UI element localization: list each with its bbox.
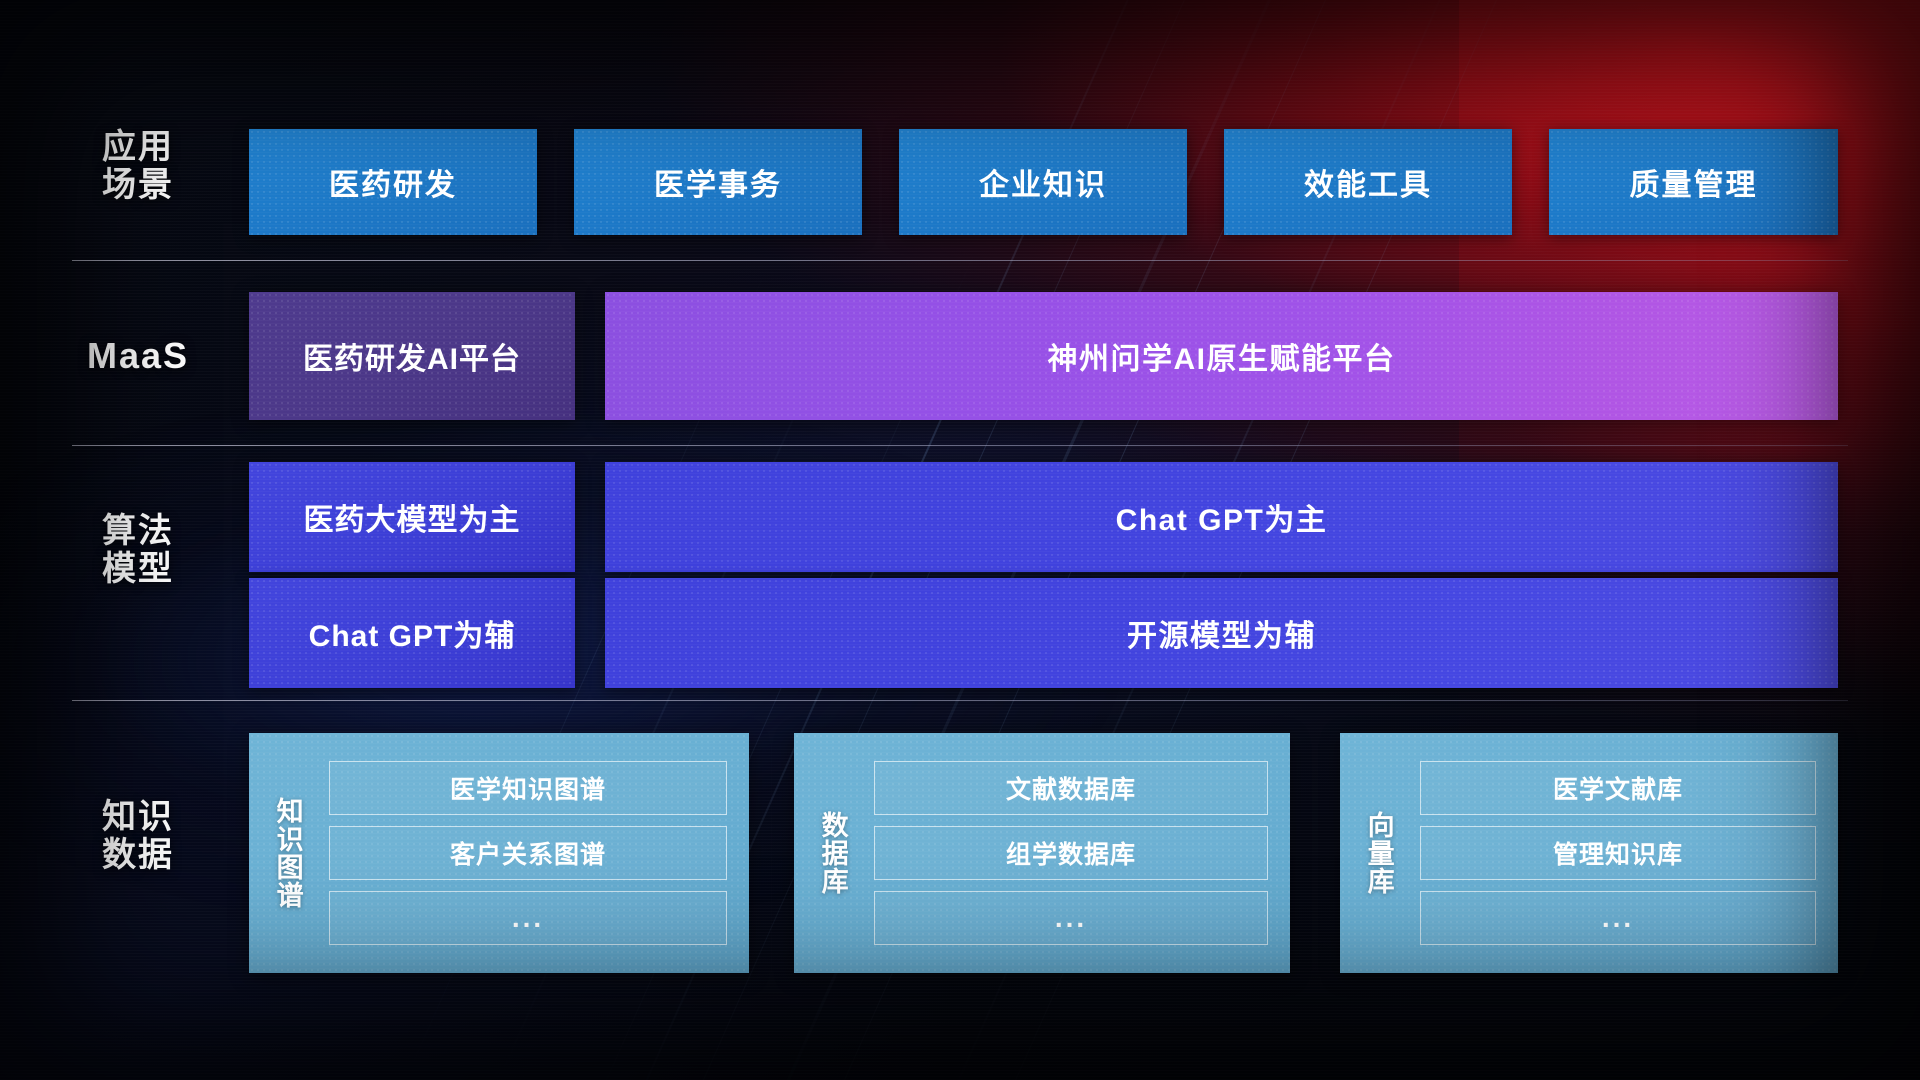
app-scenario-box-5[interactable]: 质量管理: [1549, 129, 1838, 235]
algorithm-row1-small-label: 医药大模型为主: [304, 495, 521, 539]
knowledge-panel-items: 文献数据库 组学数据库 ...: [870, 733, 1290, 973]
algorithm-row1-wide-label: Chat GPT为主: [1116, 495, 1328, 539]
tier-label-text: MaaS: [72, 336, 204, 376]
knowledge-panel-items: 医学文献库 管理知识库 ...: [1416, 733, 1838, 973]
app-scenario-box-1[interactable]: 医药研发: [249, 129, 537, 235]
maas-platform-box[interactable]: 医药研发AI平台: [249, 292, 575, 420]
tier-label-line2: 场景: [72, 166, 204, 204]
tier-label-application-scenarios: 应用 场景: [72, 128, 204, 204]
tier-divider-2: [72, 445, 1848, 446]
knowledge-panel-items: 医学知识图谱 客户关系图谱 ...: [325, 733, 749, 973]
app-scenario-label: 医学事务: [654, 160, 782, 204]
knowledge-item[interactable]: 客户关系图谱: [329, 826, 727, 880]
algorithm-row1-wide-box[interactable]: Chat GPT为主: [605, 462, 1838, 572]
knowledge-item[interactable]: 组学数据库: [874, 826, 1268, 880]
knowledge-item-more[interactable]: ...: [329, 891, 727, 945]
algorithm-row2-small-label: Chat GPT为辅: [309, 611, 516, 655]
algorithm-row2-wide-label: 开源模型为辅: [1127, 611, 1316, 655]
maas-enablement-platform-label: 神州问学AI原生赋能平台: [1048, 334, 1396, 378]
algorithm-row2-wide-box[interactable]: 开源模型为辅: [605, 578, 1838, 688]
knowledge-panel-vector-store[interactable]: 向量库 医学文献库 管理知识库 ...: [1340, 733, 1838, 973]
tier-label-line2: 模型: [72, 550, 204, 588]
app-scenario-label: 医药研发: [329, 160, 457, 204]
app-scenario-label: 质量管理: [1630, 160, 1758, 204]
app-scenario-box-2[interactable]: 医学事务: [574, 129, 862, 235]
tier-label-maas: MaaS: [72, 336, 204, 376]
knowledge-item-more[interactable]: ...: [1420, 891, 1816, 945]
knowledge-panel-knowledge-graph[interactable]: 知识图谱 医学知识图谱 客户关系图谱 ...: [249, 733, 749, 973]
slide-canvas: 应用 场景 医药研发 医学事务 企业知识 效能工具 质量管理 MaaS: [0, 0, 1920, 1080]
algorithm-row1-small-box[interactable]: 医药大模型为主: [249, 462, 575, 572]
tier-divider-3: [72, 700, 1848, 701]
tier-label-line1: 知识: [72, 798, 204, 836]
knowledge-item[interactable]: 管理知识库: [1420, 826, 1816, 880]
app-scenario-label: 企业知识: [979, 160, 1107, 204]
maas-enablement-platform-box[interactable]: 神州问学AI原生赋能平台: [605, 292, 1838, 420]
algorithm-row2-small-box[interactable]: Chat GPT为辅: [249, 578, 575, 688]
tier-label-line1: 算法: [72, 512, 204, 550]
knowledge-item[interactable]: 文献数据库: [874, 761, 1268, 815]
knowledge-panel-vertical-label: 知识图谱: [249, 733, 325, 973]
tier-label-algorithm-models: 算法 模型: [72, 512, 204, 588]
maas-platform-label: 医药研发AI平台: [303, 334, 521, 378]
knowledge-panel-vertical-label: 向量库: [1340, 733, 1416, 973]
app-scenario-box-4[interactable]: 效能工具: [1224, 129, 1512, 235]
knowledge-item[interactable]: 医学文献库: [1420, 761, 1816, 815]
app-scenario-label: 效能工具: [1304, 160, 1432, 204]
tier-label-line2: 数据: [72, 836, 204, 874]
tier-divider-1: [72, 260, 1848, 261]
tier-label-line1: 应用: [72, 128, 204, 166]
app-scenario-box-3[interactable]: 企业知识: [899, 129, 1187, 235]
knowledge-panel-vertical-label: 数据库: [794, 733, 870, 973]
knowledge-item-more[interactable]: ...: [874, 891, 1268, 945]
knowledge-item[interactable]: 医学知识图谱: [329, 761, 727, 815]
tier-label-knowledge-data: 知识 数据: [72, 798, 204, 874]
knowledge-panel-database[interactable]: 数据库 文献数据库 组学数据库 ...: [794, 733, 1290, 973]
